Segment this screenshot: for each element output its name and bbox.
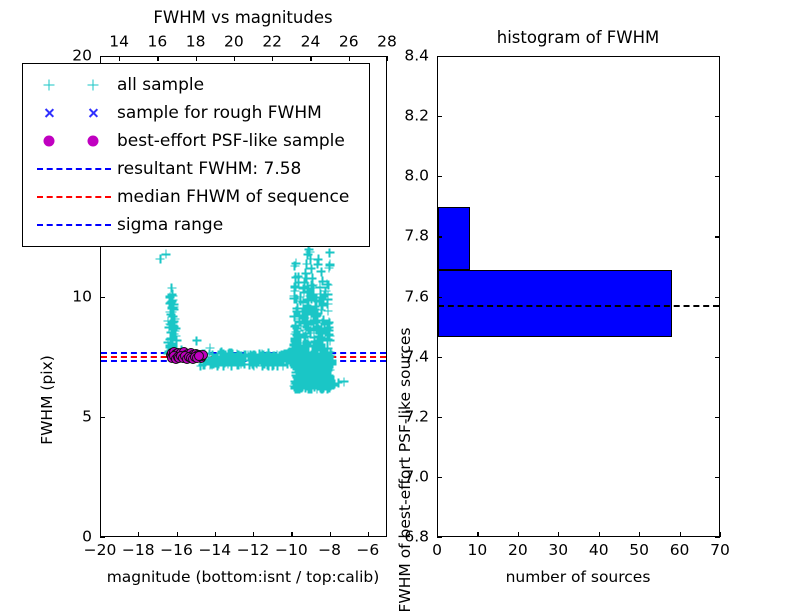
- scatter-point-all-sample: [302, 370, 311, 379]
- scatter-point-all-sample: [299, 372, 308, 381]
- scatter-point-all-sample: [217, 347, 226, 356]
- scatter-point-all-sample: [314, 342, 323, 351]
- scatter-point-all-sample: [249, 351, 258, 360]
- scatter-point-all-sample: [220, 358, 229, 367]
- scatter-point-all-sample: [289, 344, 298, 353]
- scatter-point-all-sample: [278, 358, 287, 367]
- scatter-point-all-sample: [171, 331, 180, 340]
- scatter-point-all-sample: [269, 351, 278, 360]
- scatter-point-all-sample: [168, 292, 177, 301]
- scatter-point-all-sample: [293, 308, 302, 317]
- hist-y-tick-label: 7.2: [404, 409, 429, 425]
- scatter-point-all-sample: [292, 334, 301, 343]
- scatter-point-all-sample: [313, 384, 322, 393]
- scatter-point-all-sample: [231, 353, 240, 362]
- hist-y-tick: [437, 176, 442, 177]
- scatter-point-all-sample: [303, 350, 312, 359]
- scatter-point-all-sample: [314, 377, 323, 386]
- scatter-point-all-sample: [302, 376, 311, 385]
- scatter-point-all-sample: [234, 360, 243, 369]
- scatter-point-all-sample: [320, 366, 329, 375]
- scatter-point-all-sample: [304, 296, 313, 305]
- scatter-point-all-sample: [275, 352, 284, 361]
- y-tick-label-left: 0: [82, 529, 92, 545]
- scatter-point-all-sample: [291, 377, 300, 386]
- x-tick-bottom: [368, 532, 369, 537]
- legend: all samplesample for rough FWHMbest-effo…: [22, 63, 370, 247]
- scatter-point-all-sample: [247, 352, 256, 361]
- scatter-point-all-sample: [167, 345, 176, 354]
- scatter-point-all-sample: [325, 317, 334, 326]
- scatter-point-all-sample: [167, 307, 176, 316]
- scatter-point-all-sample: [284, 353, 293, 362]
- scatter-point-all-sample: [306, 255, 315, 264]
- scatter-point-all-sample: [304, 349, 313, 358]
- scatter-point-all-sample: [169, 330, 178, 339]
- scatter-point-all-sample: [304, 304, 313, 313]
- scatter-point-all-sample: [293, 350, 302, 359]
- scatter-point-all-sample: [326, 366, 335, 375]
- scatter-point-all-sample: [314, 367, 323, 376]
- scatter-point-psf-sample: [175, 351, 185, 361]
- scatter-point-all-sample: [318, 328, 327, 337]
- scatter-point-all-sample: [167, 322, 176, 331]
- scatter-point-all-sample: [294, 380, 303, 389]
- scatter-point-all-sample: [326, 374, 335, 383]
- scatter-point-psf-sample: [173, 352, 183, 362]
- scatter-point-all-sample: [170, 327, 179, 336]
- scatter-point-psf-sample: [193, 350, 203, 360]
- scatter-point-all-sample: [303, 318, 312, 327]
- scatter-point-all-sample: [290, 261, 299, 270]
- scatter-point-all-sample: [237, 355, 246, 364]
- scatter-point-all-sample: [207, 360, 216, 369]
- scatter-point-all-sample: [297, 372, 306, 381]
- scatter-point-all-sample: [317, 354, 326, 363]
- hist-y-tick-label: 7.6: [404, 289, 429, 305]
- scatter-point-all-sample: [305, 305, 314, 314]
- scatter-point-all-sample: [304, 295, 313, 304]
- scatter-point-all-sample: [268, 355, 277, 364]
- scatter-point-all-sample: [229, 357, 238, 366]
- hist-x-tick: [477, 532, 478, 537]
- hist-y-tick: [437, 537, 442, 538]
- scatter-point-all-sample: [316, 380, 325, 389]
- scatter-point-all-sample: [313, 379, 322, 388]
- scatter-point-all-sample: [307, 281, 316, 290]
- scatter-point-all-sample: [166, 320, 175, 329]
- scatter-point-all-sample: [295, 384, 304, 393]
- scatter-point-all-sample: [322, 360, 331, 369]
- scatter-point-all-sample: [322, 361, 331, 370]
- scatter-point-all-sample: [310, 333, 319, 342]
- scatter-point-all-sample: [325, 264, 334, 273]
- scatter-point-all-sample: [222, 351, 231, 360]
- scatter-point-all-sample: [301, 384, 310, 393]
- scatter-point-all-sample: [251, 356, 260, 365]
- hist-y-tick-right: [715, 297, 720, 298]
- scatter-point-all-sample: [252, 360, 261, 369]
- scatter-point-all-sample: [290, 282, 299, 291]
- scatter-point-all-sample: [309, 350, 318, 359]
- scatter-point-all-sample: [323, 319, 332, 328]
- scatter-point-all-sample: [295, 311, 304, 320]
- scatter-point-all-sample: [320, 369, 329, 378]
- scatter-point-all-sample: [318, 299, 327, 308]
- x-tick-label-bottom: −12: [237, 543, 270, 559]
- scatter-point-all-sample: [291, 380, 300, 389]
- scatter-point-all-sample: [312, 376, 321, 385]
- scatter-point-all-sample: [293, 338, 302, 347]
- scatter-point-psf-sample: [183, 349, 193, 359]
- scatter-point-all-sample: [233, 358, 242, 367]
- scatter-point-all-sample: [294, 359, 303, 368]
- scatter-point-all-sample: [276, 350, 285, 359]
- hist-x-tick-label: 30: [548, 543, 568, 559]
- scatter-point-all-sample: [304, 340, 313, 349]
- scatter-point-all-sample: [319, 329, 328, 338]
- scatter-point-all-sample: [299, 344, 308, 353]
- scatter-point-all-sample: [224, 350, 233, 359]
- scatter-point-all-sample: [234, 351, 243, 360]
- scatter-point-all-sample: [282, 351, 291, 360]
- scatter-point-all-sample: [248, 360, 257, 369]
- scatter-point-all-sample: [308, 358, 317, 367]
- scatter-point-all-sample: [234, 361, 243, 370]
- scatter-point-all-sample: [319, 292, 328, 301]
- scatter-point-all-sample: [280, 355, 289, 364]
- scatter-point-all-sample: [319, 368, 328, 377]
- scatter-point-all-sample: [169, 345, 178, 354]
- legend-item: sigma range: [31, 211, 359, 239]
- scatter-point-all-sample: [303, 289, 312, 298]
- scatter-point-all-sample: [316, 358, 325, 367]
- scatter-point-all-sample: [165, 292, 174, 301]
- scatter-point-all-sample: [324, 353, 333, 362]
- scatter-point-all-sample: [169, 343, 178, 352]
- scatter-point-all-sample: [306, 363, 315, 372]
- scatter-point-all-sample: [313, 311, 322, 320]
- scatter-point-all-sample: [318, 344, 327, 353]
- scatter-point-all-sample: [302, 349, 311, 358]
- legend-item: best-effort PSF-like sample: [31, 127, 359, 155]
- scatter-point-all-sample: [296, 382, 305, 391]
- scatter-point-all-sample: [296, 338, 305, 347]
- hist-x-tick-label: 40: [589, 543, 609, 559]
- scatter-point-all-sample: [213, 359, 222, 368]
- scatter-point-all-sample: [174, 352, 183, 361]
- x-tick-label-bottom: −20: [84, 543, 117, 559]
- scatter-point-all-sample: [298, 367, 307, 376]
- scatter-point-all-sample: [321, 355, 330, 364]
- scatter-point-all-sample: [303, 359, 312, 368]
- scatter-point-all-sample: [317, 355, 326, 364]
- scatter-point-all-sample: [250, 360, 259, 369]
- scatter-point-all-sample: [168, 303, 177, 312]
- hist-x-tick: [518, 532, 519, 537]
- scatter-point-all-sample: [324, 382, 333, 391]
- hist-y-tick-label: 6.8: [404, 529, 429, 545]
- scatter-point-all-sample: [314, 255, 323, 264]
- scatter-point-all-sample: [317, 327, 326, 336]
- scatter-point-all-sample: [293, 368, 302, 377]
- scatter-point-all-sample: [296, 353, 305, 362]
- scatter-point-all-sample: [319, 356, 328, 365]
- legend-item: all sample: [31, 71, 359, 99]
- scatter-point-all-sample: [289, 361, 298, 370]
- scatter-point-all-sample: [314, 365, 323, 374]
- scatter-point-all-sample: [323, 350, 332, 359]
- hist-x-tick-label: 50: [629, 543, 649, 559]
- scatter-point-all-sample: [290, 376, 299, 385]
- scatter-point-all-sample: [311, 352, 320, 361]
- scatter-point-all-sample: [292, 328, 301, 337]
- x-tick-bottom: [253, 532, 254, 537]
- scatter-point-all-sample: [219, 361, 228, 370]
- scatter-point-all-sample: [327, 360, 336, 369]
- scatter-point-all-sample: [300, 319, 309, 328]
- scatter-point-all-sample: [310, 352, 319, 361]
- x-tick-label-top: 26: [339, 35, 359, 51]
- scatter-point-psf-sample: [184, 352, 194, 362]
- scatter-point-all-sample: [315, 379, 324, 388]
- scatter-point-all-sample: [227, 349, 236, 358]
- scatter-point-all-sample: [249, 361, 258, 370]
- scatter-point-all-sample: [305, 362, 314, 371]
- scatter-point-all-sample: [299, 370, 308, 379]
- scatter-point-all-sample: [293, 304, 302, 313]
- scatter-point-all-sample: [268, 358, 277, 367]
- scatter-point-all-sample: [237, 356, 246, 365]
- scatter-point-all-sample: [290, 329, 299, 338]
- scatter-point-all-sample: [318, 358, 327, 367]
- scatter-point-all-sample: [305, 369, 314, 378]
- scatter-point-all-sample: [281, 350, 290, 359]
- scatter-point-psf-sample: [196, 353, 206, 363]
- scatter-point-all-sample: [292, 343, 301, 352]
- scatter-point-all-sample: [243, 351, 252, 360]
- scatter-point-all-sample: [299, 340, 308, 349]
- scatter-point-all-sample: [301, 382, 310, 391]
- scatter-point-all-sample: [258, 355, 267, 364]
- scatter-point-all-sample: [264, 353, 273, 362]
- hist-x-tick-label: 10: [468, 543, 488, 559]
- x-tick-label-bottom: −18: [122, 543, 155, 559]
- scatter-point-all-sample: [166, 344, 175, 353]
- scatter-point-all-sample: [292, 353, 301, 362]
- scatter-point-psf-sample: [190, 352, 200, 362]
- red-dashed-line-icon: [37, 196, 111, 198]
- hist-y-tick: [437, 236, 442, 237]
- scatter-point-all-sample: [319, 295, 328, 304]
- scatter-point-all-sample: [290, 383, 299, 392]
- scatter-point-all-sample: [309, 363, 318, 372]
- scatter-point-all-sample: [306, 281, 315, 290]
- scatter-point-all-sample: [310, 377, 319, 386]
- scatter-point-all-sample: [317, 372, 326, 381]
- scatter-point-all-sample: [166, 310, 175, 319]
- scatter-point-all-sample: [163, 338, 172, 347]
- scatter-point-all-sample: [309, 357, 318, 366]
- scatter-point-all-sample: [258, 362, 267, 371]
- scatter-point-all-sample: [292, 382, 301, 391]
- scatter-point-all-sample: [291, 322, 300, 331]
- resultant-fwhm-line: [101, 356, 386, 358]
- hist-x-tick: [599, 532, 600, 537]
- scatter-point-all-sample: [318, 277, 327, 286]
- scatter-point-all-sample: [307, 351, 316, 360]
- scatter-point-all-sample: [317, 332, 326, 341]
- scatter-point-all-sample: [300, 333, 309, 342]
- scatter-point-all-sample: [305, 367, 314, 376]
- scatter-point-all-sample: [324, 383, 333, 392]
- scatter-point-all-sample: [303, 358, 312, 367]
- scatter-point-all-sample: [273, 351, 282, 360]
- scatter-point-all-sample: [313, 354, 322, 363]
- scatter-point-all-sample: [307, 353, 316, 362]
- scatter-point-all-sample: [299, 382, 308, 391]
- scatter-point-all-sample: [167, 334, 176, 343]
- scatter-point-all-sample: [297, 375, 306, 384]
- x-tick-label-top: 24: [301, 35, 321, 51]
- scatter-point-all-sample: [166, 328, 175, 337]
- x-tick-bottom: [215, 532, 216, 537]
- scatter-point-all-sample: [316, 289, 325, 298]
- scatter-point-psf-sample: [186, 353, 196, 363]
- scatter-point-all-sample: [166, 335, 175, 344]
- scatter-point-all-sample: [324, 307, 333, 316]
- scatter-point-all-sample: [313, 368, 322, 377]
- scatter-point-all-sample: [309, 355, 318, 364]
- scatter-point-all-sample: [308, 281, 317, 290]
- scatter-point-psf-sample: [189, 353, 199, 363]
- median-fwhm-line: [101, 356, 386, 358]
- scatter-point-psf-sample: [167, 348, 177, 358]
- hist-y-tick-right: [715, 116, 720, 117]
- scatter-point-all-sample: [307, 380, 316, 389]
- scatter-point-all-sample: [219, 349, 228, 358]
- x-tick-label-top: 14: [109, 35, 129, 51]
- scatter-point-all-sample: [186, 348, 195, 357]
- scatter-point-all-sample: [233, 360, 242, 369]
- scatter-point-all-sample: [240, 350, 249, 359]
- scatter-point-all-sample: [250, 350, 259, 359]
- scatter-point-all-sample: [264, 362, 273, 371]
- scatter-point-all-sample: [309, 348, 318, 357]
- scatter-point-psf-sample: [177, 351, 187, 361]
- legend-key: [31, 158, 117, 180]
- x-tick-label-top: 18: [186, 35, 206, 51]
- scatter-point-all-sample: [319, 316, 328, 325]
- scatter-point-all-sample: [320, 353, 329, 362]
- scatter-point-all-sample: [317, 267, 326, 276]
- scatter-point-all-sample: [292, 383, 301, 392]
- scatter-point-all-sample: [318, 361, 327, 370]
- scatter-point-all-sample: [319, 382, 328, 391]
- scatter-point-all-sample: [200, 352, 209, 361]
- scatter-point-all-sample: [306, 384, 315, 393]
- scatter-point-psf-sample: [169, 347, 179, 357]
- scatter-point-all-sample: [325, 359, 334, 368]
- scatter-point-all-sample: [297, 322, 306, 331]
- scatter-point-all-sample: [227, 351, 236, 360]
- scatter-point-psf-sample: [174, 350, 184, 360]
- scatter-point-all-sample: [314, 324, 323, 333]
- scatter-point-all-sample: [201, 355, 210, 364]
- scatter-point-all-sample: [168, 342, 177, 351]
- scatter-point-all-sample: [301, 314, 310, 323]
- scatter-point-all-sample: [318, 363, 327, 372]
- scatter-point-all-sample: [300, 332, 309, 341]
- scatter-point-psf-sample: [195, 350, 205, 360]
- scatter-point-all-sample: [307, 378, 316, 387]
- scatter-point-psf-sample: [195, 351, 205, 361]
- legend-item-label: best-effort PSF-like sample: [117, 131, 345, 151]
- scatter-point-all-sample: [319, 366, 328, 375]
- scatter-point-all-sample: [169, 344, 178, 353]
- scatter-point-all-sample: [311, 378, 320, 387]
- scatter-point-all-sample: [308, 348, 317, 357]
- scatter-point-all-sample: [265, 359, 274, 368]
- scatter-point-all-sample: [322, 382, 331, 391]
- scatter-point-all-sample: [297, 367, 306, 376]
- hist-y-tick: [437, 297, 442, 298]
- scatter-point-psf-sample: [180, 351, 190, 361]
- scatter-point-all-sample: [219, 361, 228, 370]
- scatter-point-all-sample: [300, 369, 309, 378]
- scatter-point-all-sample: [214, 357, 223, 366]
- scatter-point-all-sample: [312, 354, 321, 363]
- scatter-point-all-sample: [317, 354, 326, 363]
- scatter-point-all-sample: [318, 369, 327, 378]
- scatter-point-all-sample: [309, 369, 318, 378]
- scatter-point-all-sample: [291, 384, 300, 393]
- hist-y-tick: [437, 417, 442, 418]
- legend-key: [31, 74, 117, 96]
- scatter-point-all-sample: [269, 361, 278, 370]
- scatter-point-all-sample: [290, 361, 299, 370]
- scatter-point-all-sample: [312, 312, 321, 321]
- scatter-point-all-sample: [290, 335, 299, 344]
- scatter-point-all-sample: [267, 354, 276, 363]
- scatter-point-all-sample: [206, 358, 215, 367]
- scatter-point-all-sample: [323, 384, 332, 393]
- scatter-point-all-sample: [308, 373, 317, 382]
- scatter-point-all-sample: [248, 359, 257, 368]
- scatter-point-all-sample: [315, 350, 324, 359]
- scatter-point-all-sample: [292, 321, 301, 330]
- scatter-point-all-sample: [313, 380, 322, 389]
- scatter-point-all-sample: [208, 350, 217, 359]
- scatter-point-psf-sample: [194, 352, 204, 362]
- scatter-point-all-sample: [166, 308, 175, 317]
- scatter-point-all-sample: [309, 350, 318, 359]
- scatter-point-all-sample: [316, 325, 325, 334]
- scatter-point-all-sample: [311, 305, 320, 314]
- scatter-point-all-sample: [300, 379, 309, 388]
- hist-x-tick-label: 20: [508, 543, 528, 559]
- scatter-point-all-sample: [298, 360, 307, 369]
- scatter-point-all-sample: [298, 352, 307, 361]
- scatter-point-all-sample: [298, 330, 307, 339]
- scatter-point-all-sample: [290, 294, 299, 303]
- scatter-point-all-sample: [215, 355, 224, 364]
- scatter-point-all-sample: [305, 368, 314, 377]
- scatter-point-all-sample: [262, 355, 271, 364]
- scatter-point-all-sample: [283, 356, 292, 365]
- scatter-point-all-sample: [221, 350, 230, 359]
- scatter-point-all-sample: [315, 370, 324, 379]
